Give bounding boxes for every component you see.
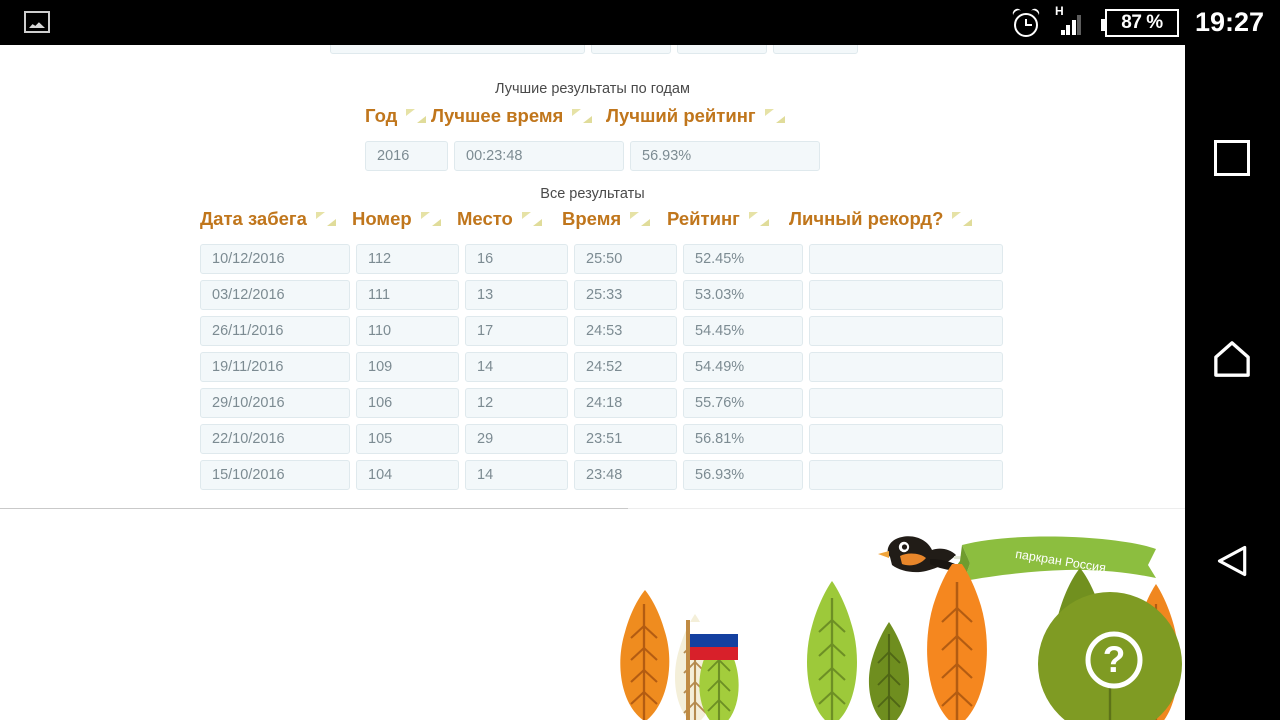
cell-number[interactable]: 111 [356,280,459,310]
cell-personal-record[interactable] [809,388,1003,418]
home-button[interactable] [1185,320,1280,400]
sort-icon[interactable] [952,212,972,226]
cell-run-date[interactable]: 26/11/2016 [200,316,350,346]
column-header-rating[interactable]: Рейтинг [667,208,789,230]
cell-place[interactable]: 12 [465,388,568,418]
all-results-section-title: Все результаты [0,186,1185,202]
cell-run-date[interactable]: 10/12/2016 [200,244,350,274]
sort-icon[interactable] [421,212,441,226]
sort-icon[interactable] [522,212,542,226]
cell-time[interactable]: 24:18 [574,388,677,418]
android-navigation-bar [1185,45,1280,720]
cell-rating[interactable]: 56.93% [683,460,803,490]
all-results-table: Дата забега Номер Место Время Рейтинг [200,208,1009,496]
cell-time[interactable]: 25:50 [574,244,677,274]
back-button[interactable] [1185,523,1280,603]
web-page-content: Лучшие результаты по годам Год Лучшее вр… [0,45,1185,720]
russian-flag-icon [665,614,745,720]
yearly-section-title: Лучшие результаты по годам [0,81,1185,97]
battery-icon: 87 % [1105,9,1179,37]
svg-text:?: ? [1103,639,1126,680]
cell-place[interactable]: 13 [465,280,568,310]
square-recents-icon [1214,140,1250,176]
cell-time[interactable]: 25:33 [574,280,677,310]
cell-personal-record[interactable] [809,316,1003,346]
cell-best-rating[interactable]: 56.93% [630,141,820,171]
column-header-best-time[interactable]: Лучшее время [431,105,606,127]
cell-rating[interactable]: 54.49% [683,352,803,382]
cell-run-date[interactable]: 03/12/2016 [200,280,350,310]
sort-icon[interactable] [316,212,336,226]
all-results-rows: 10/12/20161121625:5052.45%03/12/20161111… [200,244,1009,490]
cell-number[interactable]: 104 [356,460,459,490]
yearly-table-header: Год Лучшее время Лучший рейтинг [365,105,826,127]
table-row: 03/12/20161111325:3353.03% [200,280,1009,310]
device-screen: H 87 % 19:27 [0,0,1280,720]
sort-icon[interactable] [630,212,650,226]
all-results-table-header: Дата забега Номер Место Время Рейтинг [200,208,1009,230]
cell-personal-record[interactable] [809,424,1003,454]
cell-place[interactable]: 29 [465,424,568,454]
cell-number[interactable]: 110 [356,316,459,346]
gallery-image-icon [24,11,50,33]
cell-best-time[interactable]: 00:23:48 [454,141,624,171]
table-row: 2016 00:23:48 56.93% [365,141,826,171]
sort-icon[interactable] [749,212,769,226]
signal-bars-icon: H [1057,8,1091,38]
cell-rating[interactable]: 53.03% [683,280,803,310]
cell-run-date[interactable]: 15/10/2016 [200,460,350,490]
android-status-bar: H 87 % 19:27 [0,0,1280,45]
cell-personal-record[interactable] [809,280,1003,310]
sort-icon[interactable] [765,109,785,123]
status-clock: 19:27 [1195,7,1264,38]
table-row: 19/11/20161091424:5254.49% [200,352,1009,382]
cell-time[interactable]: 24:52 [574,352,677,382]
cell-run-date[interactable]: 29/10/2016 [200,388,350,418]
cell-rating[interactable]: 54.45% [683,316,803,346]
cell-personal-record[interactable] [809,352,1003,382]
cut-off-table-row [0,45,1185,54]
cell-run-date[interactable]: 19/11/2016 [200,352,350,382]
cell-number[interactable]: 112 [356,244,459,274]
back-triangle-icon [1215,543,1251,579]
cell-number[interactable]: 109 [356,352,459,382]
cell-personal-record[interactable] [809,244,1003,274]
cell-number[interactable]: 105 [356,424,459,454]
sort-icon[interactable] [572,109,592,123]
cell-time[interactable]: 23:48 [574,460,677,490]
cell-run-date[interactable]: 22/10/2016 [200,424,350,454]
table-row: 15/10/20161041423:4856.93% [200,460,1009,490]
column-header-number[interactable]: Номер [352,208,457,230]
table-row: 10/12/20161121625:5052.45% [200,244,1009,274]
table-row: 29/10/20161061224:1855.76% [200,388,1009,418]
cell-personal-record[interactable] [809,460,1003,490]
recents-button[interactable] [1185,118,1280,198]
cell-place[interactable]: 14 [465,352,568,382]
table-row: 22/10/20161052923:5156.81% [200,424,1009,454]
cell-rating[interactable]: 52.45% [683,244,803,274]
column-header-year[interactable]: Год [365,105,431,127]
cell-time[interactable]: 24:53 [574,316,677,346]
column-header-personal-record[interactable]: Личный рекорд? [789,208,984,230]
cell-year[interactable]: 2016 [365,141,448,171]
sort-icon[interactable] [406,109,426,123]
alarm-clock-icon [1011,8,1041,38]
cell-number[interactable]: 106 [356,388,459,418]
cell-place[interactable]: 16 [465,244,568,274]
home-icon [1213,340,1251,378]
cell-rating[interactable]: 55.76% [683,388,803,418]
column-header-best-rating[interactable]: Лучший рейтинг [606,105,796,127]
column-header-run-date[interactable]: Дата забега [200,208,352,230]
cell-place[interactable]: 14 [465,460,568,490]
column-header-time[interactable]: Время [562,208,667,230]
battery-level-label: 87 % [1121,12,1162,34]
footer-illustration: паркран Россия [0,509,1185,720]
yearly-best-table: Год Лучшее время Лучший рейтинг 2016 00:… [365,105,826,171]
cell-place[interactable]: 17 [465,316,568,346]
column-header-place[interactable]: Место [457,208,562,230]
cell-rating[interactable]: 56.81% [683,424,803,454]
table-row: 26/11/20161101724:5354.45% [200,316,1009,346]
cell-time[interactable]: 23:51 [574,424,677,454]
